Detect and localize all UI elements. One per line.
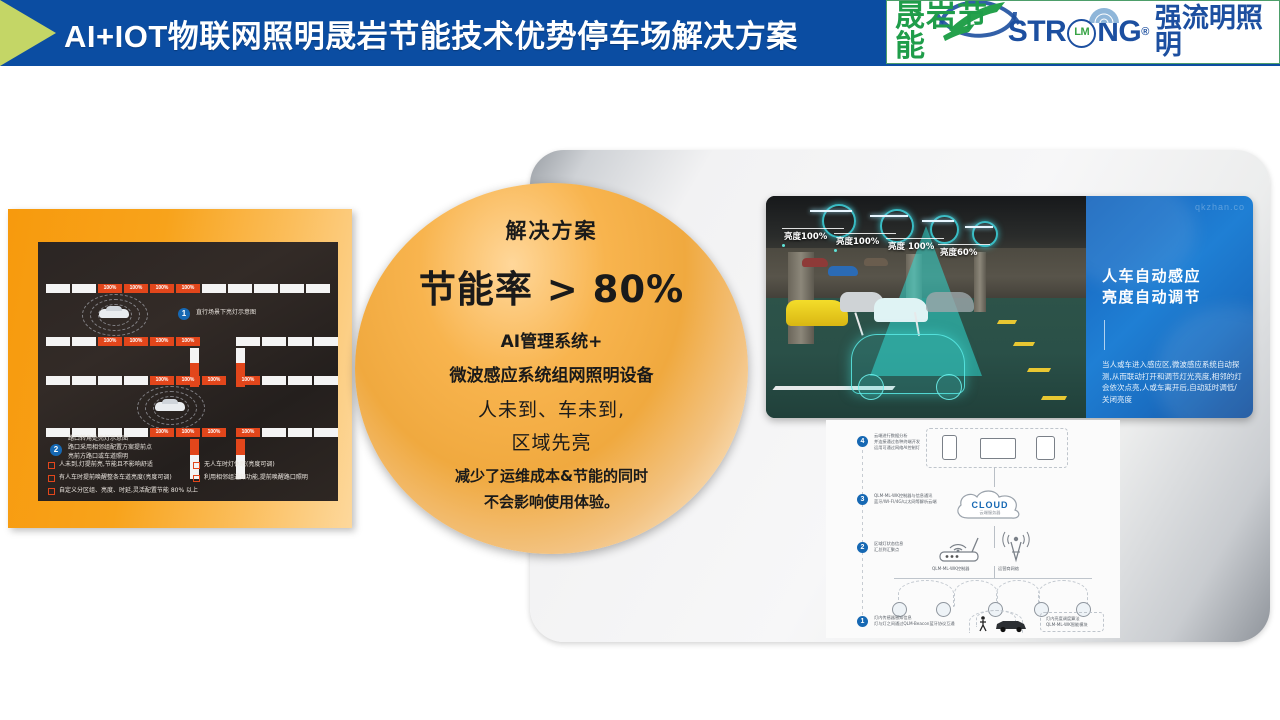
bullet-square-icon: [193, 475, 200, 482]
callout-leader: [834, 233, 896, 234]
step-3-number: 3: [857, 494, 868, 505]
light-seg: [124, 376, 148, 385]
car-icon: [99, 309, 129, 318]
cloud-label: CLOUD: [964, 500, 1016, 510]
parked-car: [802, 258, 828, 267]
light-seg: [72, 376, 96, 385]
gateway-label: QLM-ML-WK控制器: [932, 566, 969, 572]
brightness-tag-3: 亮度 100%: [888, 240, 934, 252]
page-header: AI+IOT物联网照明晟岩节能技术优势停车场解决方案 晟岩节能 STR LM N…: [0, 0, 1280, 66]
blue-panel-body: 当人或车进入感应区,微波感应系统自动探测,从而联动打开和调节灯光亮度,相邻的灯会…: [1102, 359, 1242, 405]
feature-blue-panel: qkzhan.co 人车自动感应 亮度自动调节 当人或车进入感应区,微波感应系统…: [1086, 196, 1253, 418]
cell-tower-icon: [998, 528, 1034, 564]
light-seg-active: 100%: [150, 376, 174, 385]
light-seg: [254, 284, 278, 293]
oval-line-2: 微波感应系统组网照明设备: [450, 361, 654, 386]
light-seg-active: 100%: [202, 428, 226, 437]
light-seg: [46, 337, 70, 346]
callout-leader: [782, 228, 844, 229]
list-item: 有人车时提前唤醒整条车道亮度(亮度可调): [48, 473, 185, 482]
oval-line-4: 区域先亮: [511, 428, 591, 455]
road-row-3b: 100%: [236, 376, 338, 385]
road-row-1: 100% 100% 100% 100%: [46, 284, 330, 293]
flow-arrow: [994, 467, 995, 487]
light-seg: [46, 376, 70, 385]
note-line-2: QLM-ML-WK智能模块: [1046, 622, 1088, 628]
left-illustration-panel: 100% 100% 100% 100% 1 直行场景下亮灯示意图 100% 10…: [8, 209, 352, 528]
light-seg-active: 100%: [124, 284, 148, 293]
scene-2-caption-1: 路口转角处亮灯示意图: [68, 435, 128, 443]
mesh-arc: [996, 580, 1040, 607]
lamp-node-icon: [936, 602, 951, 617]
brightness-tag-1: 亮度100%: [784, 230, 827, 242]
road-row-2: 100% 100% 100% 100%: [46, 337, 200, 346]
blue-panel-title-line-1: 人车自动感应: [1102, 266, 1201, 287]
road-row-4b: 100%: [236, 428, 338, 437]
parking-lighting-diagram: 100% 100% 100% 100% 1 直行场景下亮灯示意图 100% 10…: [38, 242, 338, 501]
lane-dash: [1013, 342, 1035, 346]
light-seg: [262, 428, 286, 437]
parked-car: [828, 266, 858, 276]
feature-bullet-list: 人未到,灯提前亮,节能且不影响舒适 无人车时灯休眠(亮度可调) 有人车时提前唤醒…: [48, 460, 330, 495]
car-icon: [155, 402, 185, 411]
step-1-number: 1: [857, 616, 868, 627]
light-seg-active: 100%: [176, 428, 200, 437]
bullet-text: 无人车时灯休眠(亮度可调): [204, 460, 275, 469]
step-2-number: 2: [857, 542, 868, 553]
road-row-2b: [236, 337, 338, 346]
brightness-tag-4: 亮度60%: [940, 246, 977, 258]
logo-lm-badge: LM: [1067, 19, 1096, 48]
step-3-line-2: 蓝牙/WI-FI/4G/以太网等解析云端: [874, 499, 937, 505]
light-seg: [288, 428, 312, 437]
light-seg: [280, 284, 304, 293]
tower-label: 运营商网络: [998, 566, 1019, 572]
parking-garage-photo: 亮度100% 亮度100% 亮度 100% 亮度60%: [766, 196, 1086, 418]
light-seg-active: 100%: [236, 428, 260, 437]
logo-strong-head: STR: [1008, 17, 1067, 47]
fan-arc-icon: [1086, 6, 1122, 24]
light-tube-icon: [922, 220, 954, 222]
bullet-square-icon: [193, 462, 200, 469]
bullet-square-icon: [48, 488, 55, 495]
light-seg: [46, 428, 70, 437]
light-seg-active: 100%: [124, 337, 148, 346]
list-item: 利用相邻组通知功能,提前唤醒路口照明: [193, 473, 330, 482]
lane-dash: [1027, 368, 1051, 372]
light-seg: [202, 284, 226, 293]
iot-network-diagram: 4 云端进行数据分析 并连接通过各种终端开发 运用可通过网络AI控制灯 CLOU…: [826, 420, 1120, 638]
flow-arrow: [994, 526, 995, 548]
callout-dot: [782, 244, 785, 247]
oval-headline: 节能率 > 80%: [419, 259, 684, 313]
light-seg-active: 100%: [236, 376, 260, 385]
scene-2-caption-2: 路口采用相邻组配置方案提前点: [68, 444, 152, 452]
hologram-wheel: [858, 374, 884, 400]
callout-leader: [938, 244, 990, 245]
step-rail: [862, 444, 863, 622]
scene-1-number: 1: [178, 308, 190, 320]
callout-dot: [834, 249, 837, 252]
page-title: AI+IOT物联网照明晟岩节能技术优势停车场解决方案: [64, 0, 798, 66]
hologram-wheel: [936, 374, 962, 400]
bullet-text: 自定义分区组、亮度、时延,灵活配置节能 80% 以上: [59, 486, 198, 495]
step-2-line-2: 汇总到汇聚点: [874, 547, 899, 553]
light-seg: [288, 337, 312, 346]
light-seg-active: 100%: [150, 428, 174, 437]
light-seg: [306, 284, 330, 293]
bullet-text: 有人车时提前唤醒整条车道亮度(亮度可调): [59, 473, 172, 482]
garage-photo-card: 亮度100% 亮度100% 亮度 100% 亮度60% qkzhan.c: [766, 196, 1253, 418]
bullet-text: 利用相邻组通知功能,提前唤醒路口照明: [204, 473, 308, 482]
scene-2-number: 2: [50, 444, 62, 456]
parked-car-lit: [874, 298, 928, 322]
step-4-number: 4: [857, 436, 868, 447]
light-seg-active: 100%: [98, 337, 122, 346]
light-seg: [262, 337, 286, 346]
light-seg-active: 100%: [98, 284, 122, 293]
lane-dash: [1041, 396, 1067, 400]
callout-leader: [886, 238, 944, 239]
list-item: 无人车时灯休眠(亮度可调): [193, 460, 330, 469]
light-seg-active: 100%: [150, 337, 174, 346]
logo-brand-en: STR LM NG ®: [1008, 17, 1149, 47]
parked-car: [864, 258, 888, 266]
brightness-tag-2: 亮度100%: [836, 235, 879, 247]
light-seg: [46, 284, 70, 293]
oval-line-6: 不会影响使用体验。: [484, 491, 619, 512]
light-seg: [262, 376, 286, 385]
light-seg-active: 100%: [176, 284, 200, 293]
light-seg-active: 100%: [176, 376, 200, 385]
brand-logo: 晟岩节能 STR LM NG ® 强流明照明: [886, 0, 1280, 64]
solution-callout-oval: 解决方案 节能率 > 80% AI管理系统+ 微波感应系统组网照明设备 人未到、…: [355, 183, 748, 554]
light-tube-icon: [870, 215, 908, 217]
blue-panel-title: 人车自动感应 亮度自动调节: [1102, 266, 1201, 308]
bullet-square-icon: [48, 475, 55, 482]
light-seg: [72, 284, 96, 293]
list-item: 自定义分区组、亮度、时延,灵活配置节能 80% 以上: [48, 486, 330, 495]
tablet-icon: [1036, 436, 1055, 460]
oval-title: 解决方案: [506, 215, 598, 245]
oval-line-5: 减少了运维成本&节能的同时: [455, 465, 648, 486]
bullet-text: 人未到,灯提前亮,节能且不影响舒适: [59, 460, 153, 469]
oval-line-3: 人未到、车未到,: [478, 395, 625, 422]
pedestrian-icon: [978, 616, 988, 632]
logo-brand-cn2: 强流明照明: [1155, 5, 1271, 59]
light-seg: [314, 337, 338, 346]
oval-line-1: AI管理系统+: [501, 327, 603, 352]
blue-panel-title-line-2: 亮度自动调节: [1102, 287, 1201, 308]
light-seg: [314, 376, 338, 385]
light-seg: [236, 337, 260, 346]
light-seg-active: 100%: [202, 376, 226, 385]
watermark: qkzhan.co: [1195, 202, 1245, 212]
logo-brand-cn: 晟岩节能: [895, 2, 1002, 62]
chevron-accent-icon: [0, 0, 56, 66]
divider: [1104, 320, 1105, 350]
light-seg-active: 100%: [150, 284, 174, 293]
light-seg: [72, 337, 96, 346]
road-row-3: 100% 100% 100%: [46, 376, 226, 385]
light-seg: [314, 428, 338, 437]
light-tube-icon: [810, 210, 852, 212]
router-icon: [936, 530, 982, 564]
bullet-square-icon: [48, 462, 55, 469]
step-1-line-2: 灯与灯之间通过QLM-Beacon蓝牙协议互通: [874, 621, 955, 627]
light-seg: [228, 284, 252, 293]
mesh-bus: [894, 578, 1092, 579]
step-4-line-3: 运用可通过网络AI控制灯: [874, 445, 920, 451]
light-seg: [98, 376, 122, 385]
parked-car: [926, 292, 974, 312]
car-icon: [994, 618, 1028, 633]
flow-arrow: [994, 566, 995, 578]
light-seg: [288, 376, 312, 385]
light-seg-active: 100%: [176, 337, 200, 346]
scene-1-caption: 直行场景下亮灯示意图: [196, 309, 256, 317]
list-item: 人未到,灯提前亮,节能且不影响舒适: [48, 460, 185, 469]
laptop-icon: [980, 438, 1016, 459]
registered-mark: ®: [1141, 27, 1149, 38]
phone-icon: [942, 435, 957, 460]
parked-car-yellow: [786, 300, 848, 326]
lane-dash: [997, 320, 1017, 324]
cloud-sublabel: 云端服务器: [964, 510, 1016, 516]
